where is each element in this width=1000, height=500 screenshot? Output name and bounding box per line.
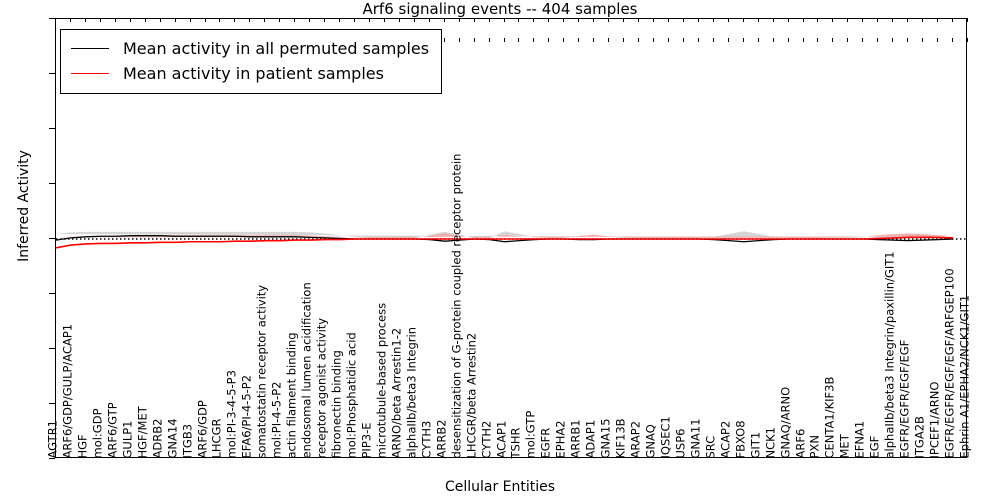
x-tick-label: CYTH2 (481, 420, 493, 458)
x-tick-label: GNAQ/ARNO (780, 386, 792, 458)
x-tick-mark-top (324, 18, 325, 22)
chart-figure: Arf6 signaling events -- 404 samples Inf… (0, 0, 1000, 500)
x-tick-mark-top (773, 18, 774, 22)
x-tick-mark-top (653, 18, 654, 22)
x-tick-mark-top (788, 18, 789, 22)
x-tick-label: EGFR/EGFR/EGF/EGF (900, 339, 912, 458)
x-tick-label: ARRB1 (571, 419, 583, 458)
x-tick-mark (877, 38, 878, 42)
x-tick-label: desensitization of G-protein coupled rec… (451, 153, 463, 458)
x-tick-mark-top (160, 18, 161, 22)
x-tick-mark-top (309, 18, 310, 22)
x-tick-label: endosomal lumen acidification (302, 282, 314, 458)
x-tick-mark (548, 38, 549, 42)
x-tick-mark-top (518, 18, 519, 22)
x-tick-mark-top (264, 18, 265, 22)
x-tick-mark-top (70, 18, 71, 22)
legend-label-patient: Mean activity in patient samples (123, 65, 384, 83)
x-tick-mark-top (743, 18, 744, 22)
x-tick-label: mol:PI-3-4-5-P3 (227, 370, 239, 458)
x-tick-mark-top (489, 18, 490, 22)
x-tick-mark-top (758, 18, 759, 22)
x-tick-mark (788, 38, 789, 42)
x-tick-mark-top (817, 18, 818, 22)
x-tick-label: EFNA1 (855, 420, 867, 458)
x-tick-mark-top (369, 18, 370, 22)
x-tick-label: receptor agonist activity (317, 317, 329, 458)
x-tick-mark-top (429, 18, 430, 22)
x-tick-mark (623, 38, 624, 42)
x-tick-mark (713, 38, 714, 42)
x-tick-label: IPCEF1/ARNO (930, 381, 942, 458)
x-tick-mark (683, 38, 684, 42)
x-tick-mark-top (399, 18, 400, 22)
chart-title: Arf6 signaling events -- 404 samples (0, 1, 1000, 18)
x-tick-mark (847, 38, 848, 42)
x-tick-label: ACAP1 (496, 420, 508, 458)
chart-legend: Mean activity in all permuted samples Me… (60, 29, 442, 94)
x-tick-mark (952, 38, 953, 42)
x-tick-mark (608, 38, 609, 42)
x-tick-label: HGF/MET (137, 406, 149, 458)
x-tick-mark (653, 38, 654, 42)
x-tick-label: alphaIIb/beta3 Integrin (406, 326, 418, 458)
x-tick-mark-top (100, 18, 101, 22)
x-tick-mark-top (578, 18, 579, 22)
x-tick-mark-top (548, 18, 549, 22)
x-tick-label: PXN (810, 435, 822, 458)
x-tick-label: ITGA2B (915, 416, 927, 458)
x-tick-label: KIF13B (616, 418, 628, 458)
x-tick-mark-top (85, 18, 86, 22)
x-tick-mark-top (563, 18, 564, 22)
x-tick-mark-top (190, 18, 191, 22)
x-tick-mark (638, 38, 639, 42)
x-tick-label: actin filament binding (287, 332, 299, 458)
x-tick-mark-top (922, 18, 923, 22)
x-tick-mark (743, 38, 744, 42)
legend-swatch-patient (71, 73, 109, 74)
x-tick-label: GIT1 (750, 431, 762, 458)
x-tick-label: USP6 (675, 428, 687, 458)
x-tick-mark-top (339, 18, 340, 22)
x-tick-mark-top (115, 18, 116, 22)
patient-line-shape (56, 237, 953, 247)
x-tick-mark (832, 38, 833, 42)
x-tick-mark (489, 38, 490, 42)
x-tick-mark (55, 38, 56, 42)
x-tick-mark (533, 38, 534, 42)
x-tick-mark-top (294, 18, 295, 22)
x-tick-mark-top (803, 18, 804, 22)
x-tick-label: ADRB2 (152, 418, 164, 458)
legend-label-permuted: Mean activity in all permuted samples (123, 40, 429, 58)
x-tick-label: Ephrin A1/EPHA2/NCK1/GIT1 (960, 294, 972, 458)
x-tick-label: ARRB2 (436, 419, 448, 458)
x-tick-label: IQSEC1 (660, 416, 672, 458)
y-axis-title: Inferred Activity (16, 6, 32, 406)
x-tick-mark (668, 38, 669, 42)
x-tick-mark-top (862, 18, 863, 22)
x-tick-mark-top (638, 18, 639, 22)
x-tick-mark-top (384, 18, 385, 22)
x-tick-mark-top (593, 18, 594, 22)
x-tick-mark (578, 38, 579, 42)
x-tick-label: ARF6 (795, 428, 807, 458)
x-tick-mark (892, 38, 893, 42)
legend-swatch-permuted (71, 48, 109, 49)
x-tick-mark-top (847, 18, 848, 22)
x-tick-mark-top (698, 18, 699, 22)
x-tick-mark (862, 38, 863, 42)
x-tick-mark (922, 38, 923, 42)
x-tick-mark-top (219, 18, 220, 22)
x-tick-label: fibronectin binding (332, 350, 344, 458)
x-tick-label: LHCGR/beta Arrestin2 (466, 332, 478, 458)
x-tick-mark (907, 38, 908, 42)
x-tick-mark-top (130, 18, 131, 22)
x-tick-label: ADAP1 (586, 419, 598, 458)
x-tick-mark-top (504, 18, 505, 22)
x-tick-label: mol:PI-4-5-P2 (272, 381, 284, 458)
x-tick-label: GNA14 (167, 418, 179, 458)
x-tick-mark-top (728, 18, 729, 22)
x-tick-mark-top (234, 18, 235, 22)
legend-item-permuted: Mean activity in all permuted samples (71, 36, 429, 61)
x-tick-mark-top (249, 18, 250, 22)
x-axis-title: Cellular Entities (0, 479, 1000, 495)
x-tick-mark (803, 38, 804, 42)
x-tick-label: microtubule-based process (376, 302, 388, 458)
x-tick-label: somatostatin receptor activity (257, 284, 269, 458)
x-tick-label: PIP3-E (361, 422, 373, 458)
x-tick-mark-top (937, 18, 938, 22)
x-tick-label: GNA11 (690, 418, 702, 458)
x-tick-label: CENTA1/KIF3B (825, 376, 837, 458)
x-tick-label: GNA15 (601, 418, 613, 458)
x-tick-mark-top (354, 18, 355, 22)
x-tick-mark-top (967, 18, 968, 22)
x-tick-label: EPHA2 (556, 420, 568, 458)
x-tick-label: EGF (870, 435, 882, 458)
x-tick-label: EFA6/PI-4-5-P2 (242, 374, 254, 458)
x-tick-mark-top (668, 18, 669, 22)
x-tick-label: ACAP2 (720, 420, 732, 458)
x-tick-label: ARF6/GDP/GULP/ACAP1 (62, 323, 74, 458)
x-tick-label: TSHR (511, 427, 523, 458)
x-tick-mark (967, 38, 968, 42)
x-tick-label: ITGB3 (182, 423, 194, 458)
x-tick-label: CYTH3 (421, 420, 433, 458)
x-tick-mark (773, 38, 774, 42)
x-tick-label: ARNO/beta Arrestin1-2 (391, 327, 403, 458)
x-tick-label: mol:GDP (92, 408, 104, 458)
x-tick-label: ARF6/GTP (107, 402, 119, 458)
x-tick-mark (563, 38, 564, 42)
x-tick-label: EGFR/EGFR/EGF/EGF/ARFGEP100 (945, 268, 957, 458)
x-tick-label: mol:Phosphatidic acid (347, 332, 359, 458)
x-tick-label: ARAP2 (631, 420, 643, 458)
x-tick-mark-top (683, 18, 684, 22)
x-tick-mark-top (414, 18, 415, 22)
x-tick-mark (817, 38, 818, 42)
x-tick-mark-top (444, 18, 445, 22)
x-tick-mark-top (474, 18, 475, 22)
legend-item-patient: Mean activity in patient samples (71, 61, 429, 86)
x-tick-mark (698, 38, 699, 42)
x-tick-label: AGTR1 (48, 420, 60, 459)
x-tick-label: FBXO8 (735, 420, 747, 458)
x-tick-mark-top (907, 18, 908, 22)
x-tick-label: LHCGR (212, 418, 224, 458)
x-tick-mark (593, 38, 594, 42)
x-tick-label: SRC (705, 435, 717, 458)
x-tick-label: GULP1 (122, 420, 134, 458)
x-tick-mark (444, 38, 445, 42)
x-tick-mark (518, 38, 519, 42)
x-tick-label: ARF6/GDP (197, 400, 209, 458)
x-tick-mark-top (608, 18, 609, 22)
x-tick-mark-top (145, 18, 146, 22)
x-tick-mark-top (55, 18, 56, 22)
x-tick-mark-top (533, 18, 534, 22)
x-tick-mark-top (459, 18, 460, 22)
x-tick-mark-top (713, 18, 714, 22)
x-tick-mark (474, 38, 475, 42)
x-tick-mark-top (279, 18, 280, 22)
x-tick-label: alphaIIb/beta3 Integrin/paxillin/GIT1 (885, 251, 897, 458)
x-tick-label: MET (840, 434, 852, 458)
x-tick-mark (459, 38, 460, 42)
x-tick-mark-top (952, 18, 953, 22)
x-tick-label: NCK1 (765, 427, 777, 459)
x-tick-mark-top (623, 18, 624, 22)
x-tick-mark-top (175, 18, 176, 22)
x-tick-mark (758, 38, 759, 42)
patient-mean-line (56, 237, 953, 247)
x-tick-label: mol:GTP (526, 410, 538, 458)
x-tick-mark (504, 38, 505, 42)
x-tick-mark (937, 38, 938, 42)
x-tick-mark-top (877, 18, 878, 22)
x-tick-mark-top (205, 18, 206, 22)
x-tick-mark-top (832, 18, 833, 22)
x-tick-label: EGFR (541, 427, 553, 458)
x-tick-label: GNAQ (646, 424, 658, 458)
x-tick-mark (728, 38, 729, 42)
x-tick-label: HGF (77, 434, 89, 458)
x-tick-mark-top (892, 18, 893, 22)
